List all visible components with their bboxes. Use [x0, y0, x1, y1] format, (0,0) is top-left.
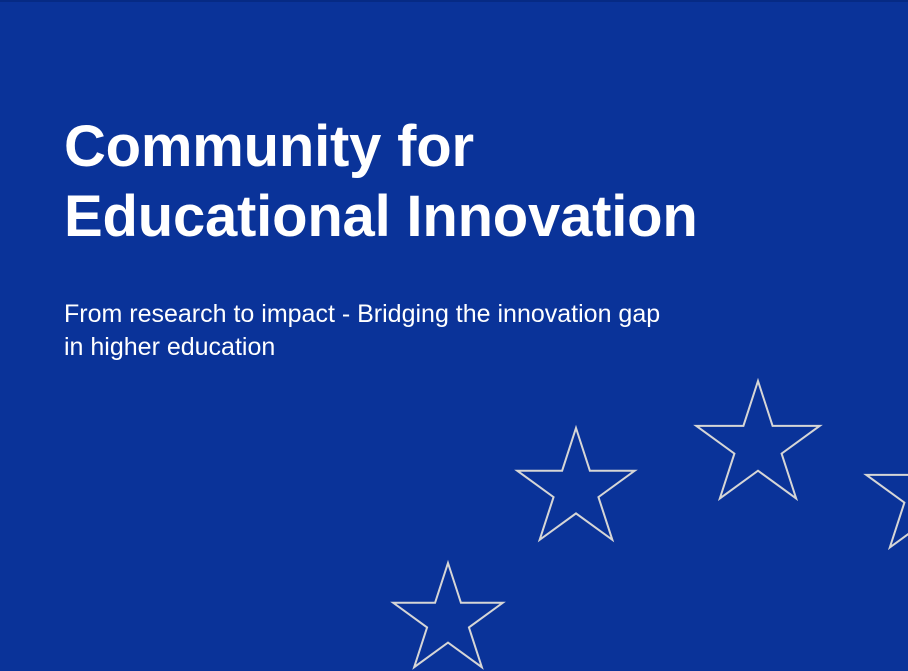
slide-text-block: Community for Educational Innovation Fro… [64, 112, 854, 364]
slide-top-border [0, 0, 908, 2]
page-title: Community for Educational Innovation [64, 112, 854, 252]
slide-subtitle: From research to impact - Bridging the i… [64, 252, 854, 364]
star-right-edge-icon [866, 430, 908, 547]
star-mid-icon [517, 428, 635, 540]
star-bottom-icon [393, 563, 503, 667]
star-large-icon [696, 381, 820, 498]
presentation-slide: Community for Educational Innovation Fro… [0, 0, 908, 671]
